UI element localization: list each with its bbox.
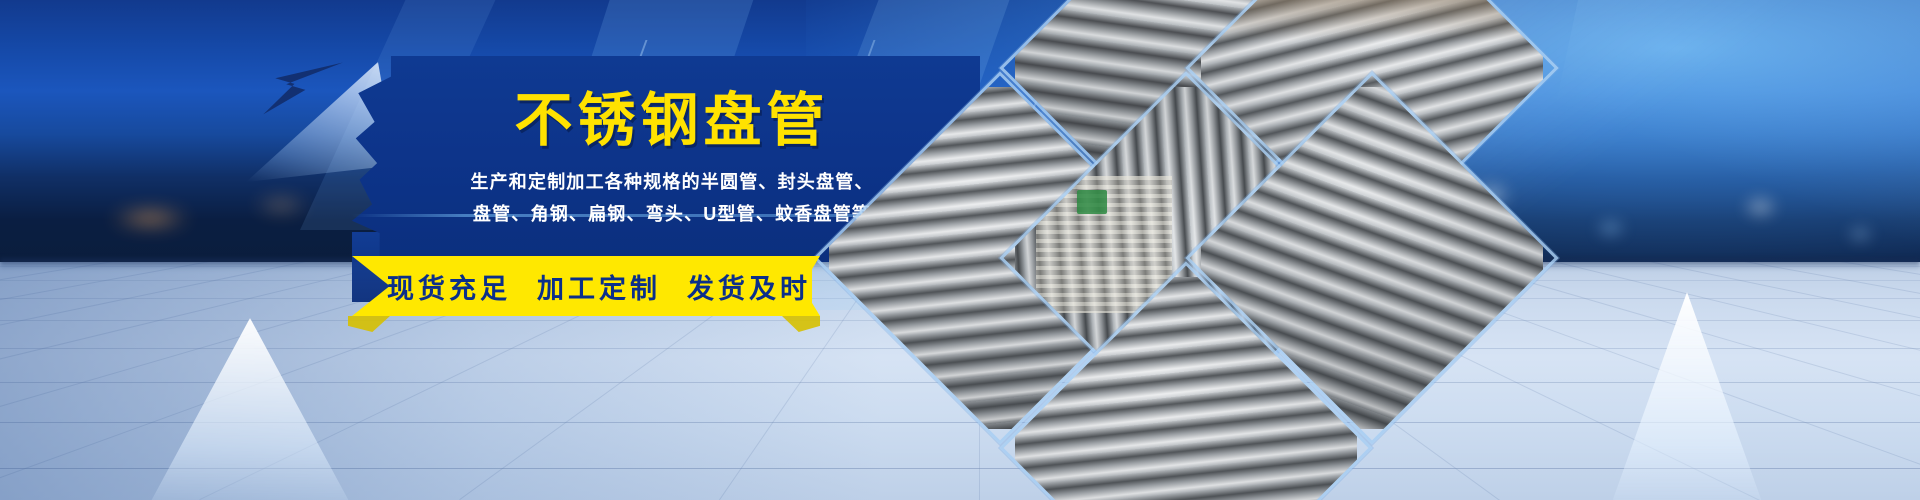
factory-floor-texture (1201, 0, 1543, 41)
light-sheet-overlay-2 (1525, 0, 1920, 250)
feature-item-2: 加工定制 (537, 267, 661, 306)
feature-item-1: 现货充足 (387, 267, 511, 306)
product-photo-montage (836, 0, 1536, 500)
green-object (1077, 190, 1108, 214)
product-hero-banner: 不锈钢盘管 生产和定制加工各种规格的半圆管、封头盘管、 盘管、角钢、扁钢、弯头、… (0, 0, 1920, 500)
feature-item-3: 发货及时 (687, 267, 811, 306)
features-ribbon-text: 现货充足 加工定制 发货及时 (352, 256, 820, 316)
